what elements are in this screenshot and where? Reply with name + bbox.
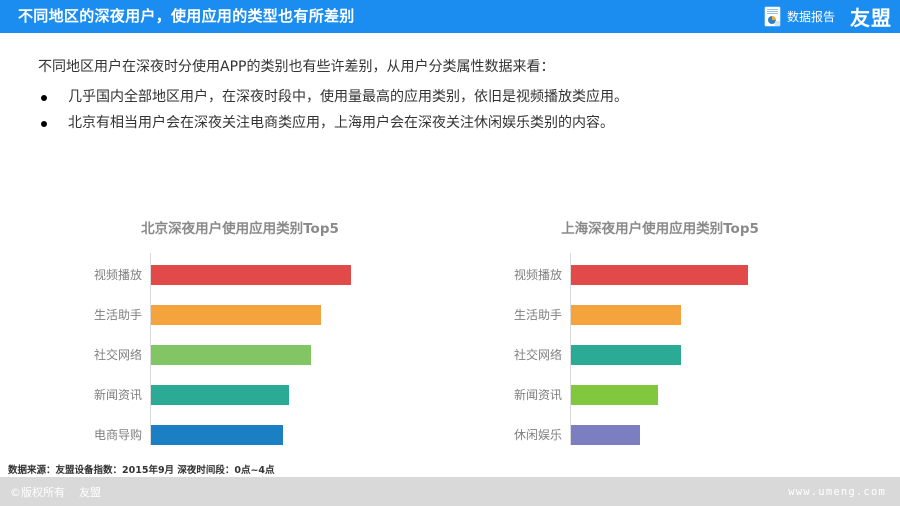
charts-area: 北京深夜用户使用应用类别Top5 视频播放 生活助手 社交网络 新闻资讯 — [0, 205, 900, 455]
bar-row: 新闻资讯 — [30, 385, 450, 405]
bullet-list: 几乎国内全部地区用户，在深夜时段中，使用量最高的应用类别，依旧是视频播放类应用。… — [38, 86, 838, 135]
list-item-text: 北京有相当用户会在深夜关注电商类应用，上海用户会在深夜关注休闲娱乐类别的内容。 — [68, 115, 614, 131]
bar-0 — [151, 265, 351, 285]
bar-label: 社交网络 — [30, 345, 142, 365]
page-title: 不同地区的深夜用户，使用应用的类型也有所差别 — [18, 6, 355, 26]
footer-copyright: ©版权所有友盟 — [10, 484, 101, 500]
footer-url: www.umeng.com — [788, 486, 886, 498]
bar-label: 新闻资讯 — [30, 385, 142, 405]
footer-bar — [0, 477, 900, 506]
source-note: 数据来源：友盟设备指数：2015年9月 深夜时间段：0点~4点 — [8, 462, 275, 476]
bar-row: 休闲娱乐 — [450, 425, 870, 445]
data-report-icon — [765, 7, 780, 26]
lead-paragraph: 不同地区用户在深夜时分使用APP的类别也有些许差别，从用户分类属性数据来看： — [38, 56, 838, 78]
bullet-dot-icon — [41, 121, 47, 127]
bar-label: 电商导购 — [30, 425, 142, 445]
slide-header: 不同地区的深夜用户，使用应用的类型也有所差别 数据报告 友盟 — [0, 0, 900, 33]
chart-beijing: 北京深夜用户使用应用类别Top5 视频播放 生活助手 社交网络 新闻资讯 — [30, 205, 450, 455]
bullet-dot-icon — [41, 95, 47, 101]
bar-label: 视频播放 — [450, 265, 562, 285]
bar-4 — [571, 425, 640, 445]
chart-plot: 视频播放 生活助手 社交网络 新闻资讯 休闲娱乐 — [450, 253, 870, 453]
chart-shanghai: 上海深夜用户使用应用类别Top5 视频播放 生活助手 社交网络 新闻资讯 — [450, 205, 870, 455]
report-icon-lines — [767, 9, 778, 14]
bar-3 — [151, 385, 289, 405]
list-item-text: 几乎国内全部地区用户，在深夜时段中，使用量最高的应用类别，依旧是视频播放类应用。 — [68, 89, 628, 105]
chart-title: 上海深夜用户使用应用类别Top5 — [450, 217, 870, 237]
bar-label: 社交网络 — [450, 345, 562, 365]
header-brand-group: 数据报告 友盟 — [765, 0, 892, 33]
bar-2 — [571, 345, 681, 365]
slide-root: 不同地区的深夜用户，使用应用的类型也有所差别 数据报告 友盟 不同地区用户在深夜… — [0, 0, 900, 506]
bar-1 — [571, 305, 681, 325]
bar-3 — [571, 385, 658, 405]
bar-row: 视频播放 — [30, 265, 450, 285]
bar-0 — [571, 265, 748, 285]
bar-row: 社交网络 — [30, 345, 450, 365]
report-label: 数据报告 — [787, 8, 835, 25]
chart-title: 北京深夜用户使用应用类别Top5 — [30, 217, 450, 237]
bar-label: 生活助手 — [30, 305, 142, 325]
bar-row: 视频播放 — [450, 265, 870, 285]
copyright-brand: 友盟 — [79, 486, 101, 499]
body-copy: 不同地区用户在深夜时分使用APP的类别也有些许差别，从用户分类属性数据来看： 几… — [38, 56, 838, 138]
bar-label: 休闲娱乐 — [450, 425, 562, 445]
report-icon-fold — [775, 21, 780, 26]
bar-label: 生活助手 — [450, 305, 562, 325]
bar-row: 社交网络 — [450, 345, 870, 365]
bar-2 — [151, 345, 311, 365]
bar-label: 新闻资讯 — [450, 385, 562, 405]
copyright-text: ©版权所有 — [10, 486, 65, 499]
bar-row: 生活助手 — [30, 305, 450, 325]
bar-row: 新闻资讯 — [450, 385, 870, 405]
bar-row: 电商导购 — [30, 425, 450, 445]
bar-label: 视频播放 — [30, 265, 142, 285]
list-item: 几乎国内全部地区用户，在深夜时段中，使用量最高的应用类别，依旧是视频播放类应用。 — [38, 86, 838, 109]
chart-plot: 视频播放 生活助手 社交网络 新闻资讯 电商导购 — [30, 253, 450, 453]
brand-logo: 友盟 — [850, 2, 892, 31]
bar-4 — [151, 425, 283, 445]
bar-1 — [151, 305, 321, 325]
list-item: 北京有相当用户会在深夜关注电商类应用，上海用户会在深夜关注休闲娱乐类别的内容。 — [38, 112, 838, 135]
bar-row: 生活助手 — [450, 305, 870, 325]
